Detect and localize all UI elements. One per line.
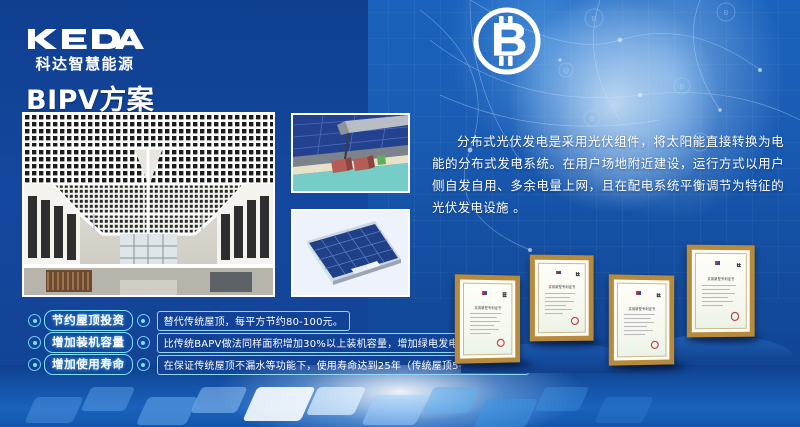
certificate-emblem-icon [482,291,487,295]
bullet-dot-icon [28,336,41,349]
certificate-body-lines [544,293,580,317]
slide-canvas: BB @B BB 科达智慧能源 BIPV方案 [0,0,800,427]
detail-photo-mounting-node [291,113,410,193]
certificate-item: 实用新型专利证书 [609,274,674,365]
bullet-dot-icon [137,358,150,371]
certificate-qr-icon [736,263,740,268]
certificates-group: 实用新型专利证书 实用新型专利证书 [455,271,800,367]
advantages-list: 节约屋顶投资 替代传统屋顶，每平方节约80-100元。 增加装机容量 比传统BA… [28,310,438,376]
certificate-title: 实用新型专利证书 [618,305,666,310]
main-photo-atrium [22,112,275,297]
certificate-item: 实用新型专利证书 [687,245,755,338]
certificate-body-lines [624,314,661,338]
svg-text:@: @ [563,67,570,75]
certificate-title: 实用新型专利证书 [696,276,746,281]
svg-text:B: B [724,9,729,17]
bullet-dot-icon [28,358,41,371]
bullet-dot-icon [28,314,41,327]
pv-array-illustration [293,211,408,295]
bullet-dot-icon [137,314,150,327]
advantage-desc: 比传统BAPV做法同样面积增加30%以上装机容量，增加绿电发电量。 [157,333,486,353]
certificate-qr-icon [657,293,661,297]
advantage-row: 节约屋顶投资 替代传统屋顶，每平方节约80-100元。 [28,310,438,331]
certificate-seal-icon [571,317,579,325]
certificate-frame: 实用新型专利证书 [530,255,594,342]
bitcoin-circle-icon [470,4,544,78]
certificate-emblem-icon [556,271,561,275]
logo-chinese-name: 科达智慧能源 [24,53,146,74]
svg-text:B: B [592,15,597,23]
svg-text:B: B [590,115,595,123]
certificate-frame: 实用新型专利证书 [455,274,520,364]
certificate-emblem-icon [636,291,641,295]
advantage-row: 增加使用寿命 在保证传统屋顶不漏水等功能下，使用寿命达到25年（传统屋顶5-10… [28,354,438,375]
certificate-emblem-icon [715,261,720,265]
certificate-frame: 实用新型专利证书 [609,274,674,365]
mounting-node-illustration [293,115,408,191]
advantage-badge: 增加装机容量 [44,332,133,353]
certificate-qr-icon [576,272,580,276]
certificate-seal-icon [730,312,738,321]
certificate-title: 实用新型专利证书 [464,305,511,310]
certificate-seal-icon [497,339,505,347]
certificate-body-lines [470,313,507,337]
advantage-badge: 增加使用寿命 [44,354,133,375]
svg-text:B: B [680,83,685,91]
certificate-frame: 实用新型专利证书 [687,245,755,338]
certificate-item: 实用新型专利证书 [530,255,594,342]
certificate-title: 实用新型专利证书 [539,284,585,289]
intro-paragraph: 分布式光伏发电是采用光伏组件，将太阳能直接转换为电能的分布式发电系统。在用户场地… [432,131,784,219]
advantage-row: 增加装机容量 比传统BAPV做法同样面积增加30%以上装机容量，增加绿电发电量。 [28,332,438,353]
keda-wordmark-icon [24,26,146,52]
certificate-item: 实用新型专利证书 [455,274,520,364]
certificate-seal-icon [651,340,659,348]
certificate-qr-icon [503,293,507,297]
bullet-dot-icon [137,336,150,349]
certificate-body-lines [702,285,741,309]
advantage-desc: 替代传统屋顶，每平方节约80-100元。 [157,311,350,331]
brand-logo: 科达智慧能源 [24,26,146,74]
atrium-illustration [24,114,273,295]
advantage-badge: 节约屋顶投资 [44,310,133,331]
module-photo-array [291,209,410,297]
